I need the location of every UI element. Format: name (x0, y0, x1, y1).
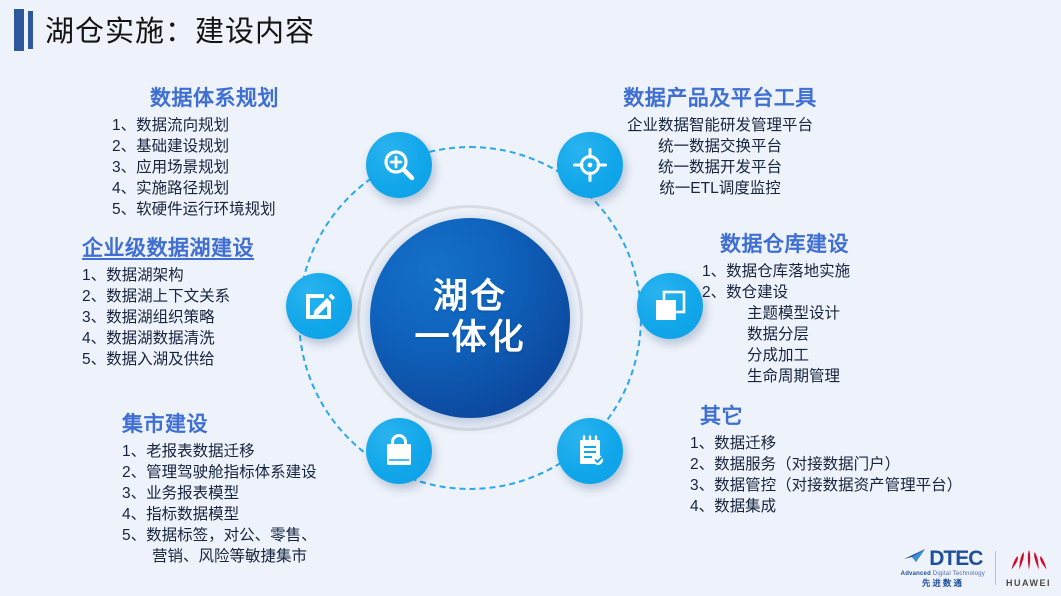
dtec-wordmark: DTEC (929, 548, 982, 569)
huawei-logo: HUAWEI (1006, 548, 1051, 588)
logo-divider (995, 551, 996, 585)
shopping-bag-icon (381, 433, 417, 469)
list-item: 1、数据流向规划 (112, 115, 279, 136)
title-bar: 湖仓实施：建设内容 (0, 0, 1061, 62)
list-item: 3、数据管控（对接数据资产管理平台） (690, 475, 962, 496)
block-heading: 数据产品及平台工具 (598, 82, 842, 112)
dtec-logo: DTEC Advanced Digital Technology 先进数通 (901, 548, 985, 588)
block-heading: 数据体系规划 (150, 82, 279, 112)
dtec-chinese-name: 先进数通 (922, 579, 964, 588)
title-accent-bars (14, 9, 24, 51)
node-data-mart[interactable] (366, 418, 432, 484)
notepad-check-icon (572, 433, 608, 469)
core-label-line1: 湖仓 (433, 277, 507, 318)
magnifier-plus-icon (381, 147, 417, 183)
dtec-tagline: Advanced Digital Technology (901, 571, 985, 577)
logo-bar: DTEC Advanced Digital Technology 先进数通 HU… (901, 548, 1051, 588)
list-sub-item: 分成加工 (702, 345, 850, 366)
list-item: 1、数据迁移 (690, 433, 962, 454)
block-heading: 其它 (700, 400, 962, 430)
list-item: 1、老报表数据迁移 (122, 441, 317, 462)
dtec-tagline-bold: Advanced (901, 571, 931, 577)
core-label-line2: 一体化 (414, 318, 525, 359)
list-item: 2、数据服务（对接数据门户） (690, 454, 962, 475)
list-item: 5、数据入湖及供给 (82, 349, 254, 370)
list-item: 2、管理驾驶舱指标体系建设 (122, 462, 317, 483)
list-item-continuation: 营销、风险等敏捷集市 (122, 546, 317, 567)
node-data-system-planning[interactable] (366, 132, 432, 198)
list-sub-item: 生命周期管理 (702, 366, 850, 387)
block-enterprise-data-lake: 企业级数据湖建设 1、数据湖架构 2、数据湖上下文关系 3、数据湖组织策略 4、… (82, 232, 254, 370)
block-list: 1、数据湖架构 2、数据湖上下文关系 3、数据湖组织策略 4、数据湖数据清洗 5… (82, 265, 254, 370)
list-item: 1、数据仓库落地实施 (702, 261, 850, 282)
list-item: 统一ETL调度监控 (598, 178, 842, 199)
list-item: 1、数据湖架构 (82, 265, 254, 286)
list-item: 统一数据开发平台 (598, 157, 842, 178)
list-item: 4、实施路径规划 (112, 178, 279, 199)
list-sub-item: 主题模型设计 (702, 303, 850, 324)
dtec-arrow-icon (903, 548, 927, 569)
block-data-product-platform: 数据产品及平台工具 企业数据智能研发管理平台 统一数据交换平台 统一数据开发平台… (598, 82, 842, 199)
list-item: 2、数仓建设 (702, 282, 850, 303)
huawei-flower-icon (1010, 548, 1048, 577)
block-list: 1、数据迁移 2、数据服务（对接数据门户） 3、数据管控（对接数据资产管理平台）… (690, 433, 962, 517)
edit-pencil-square-icon (301, 288, 337, 324)
core-circle: 湖仓 一体化 (370, 218, 570, 418)
node-enterprise-data-lake[interactable] (286, 273, 352, 339)
block-heading: 集市建设 (122, 408, 317, 438)
list-item: 3、数据湖组织策略 (82, 307, 254, 328)
list-item: 2、基础建设规划 (112, 136, 279, 157)
block-data-mart: 集市建设 1、老报表数据迁移 2、管理驾驶舱指标体系建设 3、业务报表模型 4、… (122, 408, 317, 567)
block-data-warehouse: 数据仓库建设 1、数据仓库落地实施 2、数仓建设 主题模型设计 数据分层 分成加… (702, 228, 850, 387)
dtec-logo-mark: DTEC (903, 548, 982, 569)
list-item: 4、指标数据模型 (122, 504, 317, 525)
dtec-tagline-rest: Digital Technology (931, 571, 985, 577)
list-item: 2、数据湖上下文关系 (82, 286, 254, 307)
block-data-system-planning: 数据体系规划 1、数据流向规划 2、基础建设规划 3、应用场景规划 4、实施路径… (112, 82, 279, 220)
huawei-wordmark: HUAWEI (1006, 578, 1051, 588)
block-list: 企业数据智能研发管理平台 统一数据交换平台 统一数据开发平台 统一ETL调度监控 (598, 115, 842, 199)
list-item: 4、数据集成 (690, 496, 962, 517)
list-item: 4、数据湖数据清洗 (82, 328, 254, 349)
list-item: 统一数据交换平台 (598, 136, 842, 157)
block-list: 1、老报表数据迁移 2、管理驾驶舱指标体系建设 3、业务报表模型 4、指标数据模… (122, 441, 317, 567)
block-heading: 企业级数据湖建设 (82, 232, 254, 262)
list-item: 5、数据标签，对公、零售、 (122, 525, 317, 546)
page-title: 湖仓实施：建设内容 (45, 8, 315, 50)
list-item: 3、业务报表模型 (122, 483, 317, 504)
copy-layers-icon (652, 288, 688, 324)
block-list: 1、数据仓库落地实施 2、数仓建设 主题模型设计 数据分层 分成加工 生命周期管… (702, 261, 850, 387)
list-item: 企业数据智能研发管理平台 (598, 115, 842, 136)
block-other-items: 其它 1、数据迁移 2、数据服务（对接数据门户） 3、数据管控（对接数据资产管理… (690, 400, 962, 517)
node-other-items[interactable] (557, 418, 623, 484)
list-sub-item: 数据分层 (702, 324, 850, 345)
block-list: 1、数据流向规划 2、基础建设规划 3、应用场景规划 4、实施路径规划 5、软硬… (112, 115, 279, 220)
block-heading: 数据仓库建设 (720, 228, 850, 258)
list-item: 5、软硬件运行环境规划 (112, 199, 279, 220)
list-item: 3、应用场景规划 (112, 157, 279, 178)
node-data-warehouse[interactable] (637, 273, 703, 339)
